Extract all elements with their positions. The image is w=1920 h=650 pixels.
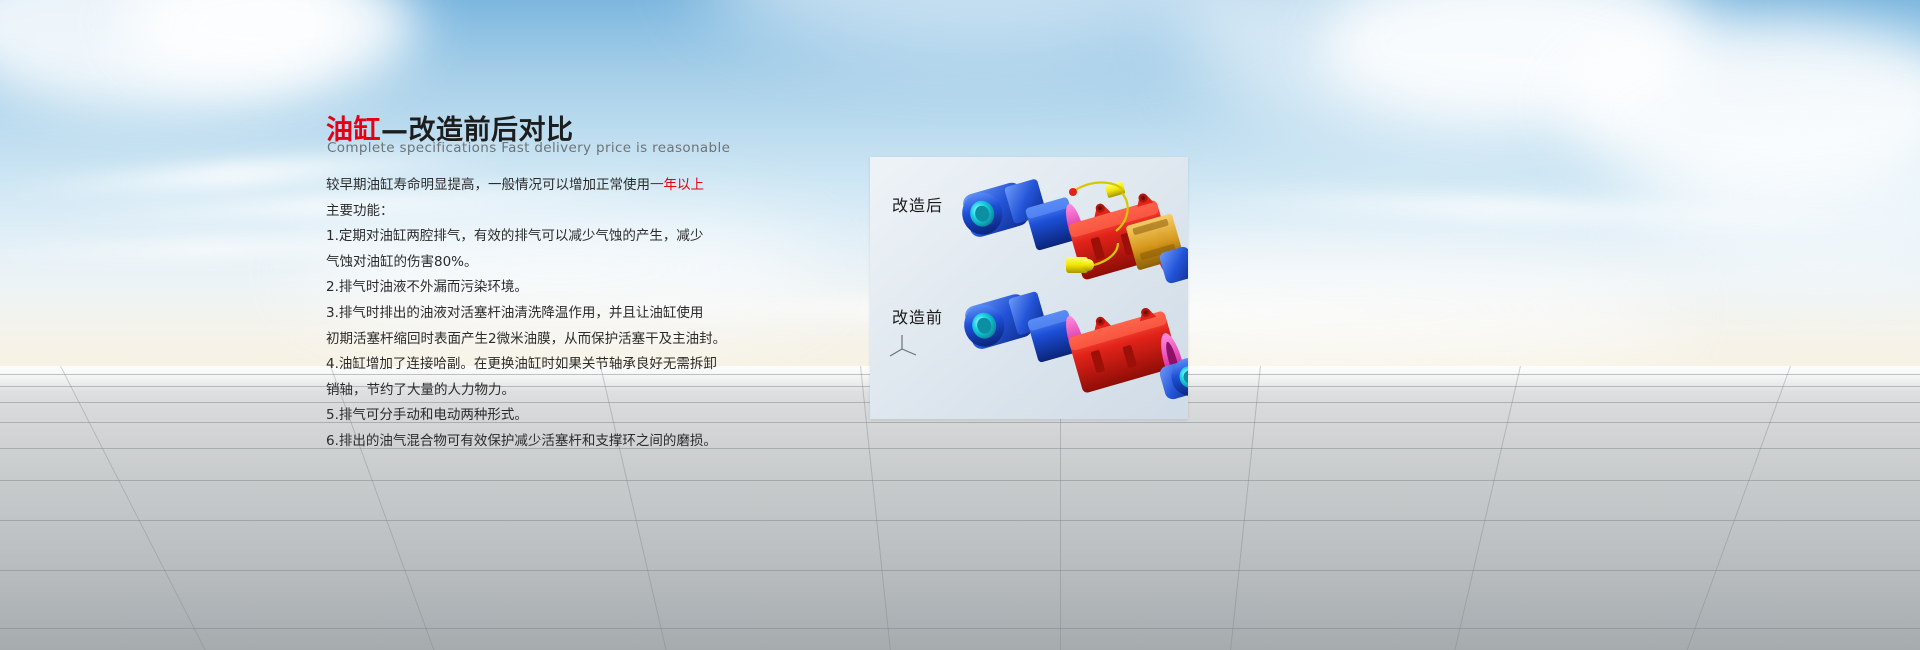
intro-text: 较早期油缸寿命明显提高，一般情况可以增加正常使用 [326,177,650,193]
feature-line: 销轴，节约了大量的人力物力。 [326,378,746,404]
banner-content: 油缸—改造前后对比 Complete specifications Fast d… [0,0,1920,650]
hero-banner: 油缸—改造前后对比 Complete specifications Fast d… [0,0,1920,650]
feature-line: 5.排气可分手动和电动两种形式。 [326,403,746,429]
label-before-modification: 改造前 [892,304,943,328]
feature-description: 较早期油缸寿命明显提高，一般情况可以增加正常使用一年以上 主要功能： 1.定期对… [326,173,746,455]
feature-line: 4.油缸增加了连接哈副。在更换油缸时如果关节轴承良好无需拆卸 [326,352,746,378]
section-label: 主要功能： [326,199,746,225]
product-comparison-panel: 改造后 改造前 [870,157,1188,419]
feature-line: 6.排出的油气混合物可有效保护减少活塞杆和支撑环之间的磨损。 [326,429,746,455]
intro-highlight: 一年以上 [650,177,704,193]
label-after-modification: 改造后 [892,192,943,216]
intro-line: 较早期油缸寿命明显提高，一般情况可以增加正常使用一年以上 [326,173,746,199]
feature-line: 初期活塞杆缩回时表面产生2微米油膜，从而保护活塞干及主油封。 [326,327,746,353]
page-subtitle: Complete specifications Fast delivery pr… [327,140,730,156]
feature-line: 1.定期对油缸两腔排气，有效的排气可以减少气蚀的产生，减少 [326,224,746,250]
feature-line: 气蚀对油缸的伤害80%。 [326,250,746,276]
feature-line: 2.排气时油液不外漏而污染环境。 [326,275,746,301]
feature-line: 3.排气时排出的油液对活塞杆油清洗降温作用，并且让油缸使用 [326,301,746,327]
